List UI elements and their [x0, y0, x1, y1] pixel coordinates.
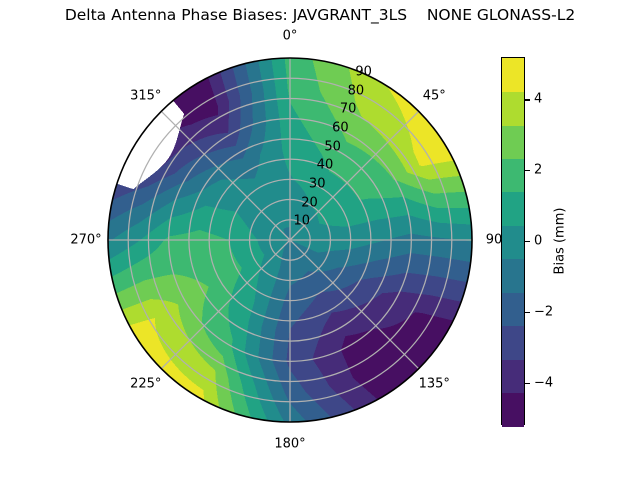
azimuth-tick-315: 315° — [130, 88, 161, 103]
colorbar-axis-label: Bias (mm) — [553, 208, 568, 275]
radial-tick-40: 40 — [317, 158, 334, 173]
radial-tick-10: 10 — [293, 214, 310, 229]
azimuth-tick-45: 45° — [423, 88, 446, 103]
radial-tick-60: 60 — [332, 120, 349, 135]
azimuth-tick-0: 0° — [283, 29, 298, 44]
colorbar-band — [502, 125, 524, 159]
colorbar-tick-label: 4 — [534, 92, 542, 107]
colorbar-band — [502, 259, 524, 293]
azimuth-tick-180: 180° — [274, 437, 305, 452]
colorbar-band — [502, 326, 524, 360]
colorbar-tick-label: 2 — [534, 163, 542, 178]
colorbar-band — [502, 158, 524, 192]
colorbar-tick-label: −4 — [534, 375, 553, 390]
colorbar-band — [502, 292, 524, 326]
colorbar-band — [502, 393, 524, 427]
radial-tick-50: 50 — [324, 139, 341, 154]
colorbar[interactable]: −4−2024 — [501, 57, 525, 425]
radial-tick-70: 70 — [340, 102, 357, 117]
colorbar-tick-mark — [525, 312, 530, 313]
colorbar-tick-mark — [525, 383, 530, 384]
radial-tick-90: 90 — [355, 64, 372, 79]
azimuth-tick-225: 225° — [130, 377, 161, 392]
colorbar-tick-label: −2 — [534, 304, 553, 319]
radial-tick-20: 20 — [301, 195, 318, 210]
colorbar-tick-mark — [525, 170, 530, 171]
colorbar-tick-mark — [525, 99, 530, 100]
azimuth-tick-135: 135° — [419, 377, 450, 392]
colorbar-tick-mark — [525, 241, 530, 242]
colorbar-band — [502, 91, 524, 125]
colorbar-band — [502, 58, 524, 92]
colorbar-band — [502, 359, 524, 393]
colorbar-band — [502, 192, 524, 226]
figure-canvas: Delta Antenna Phase Biases: JAVGRANT_3LS… — [0, 0, 640, 480]
radial-tick-30: 30 — [309, 176, 326, 191]
colorbar-tick-label: 0 — [534, 234, 542, 249]
colorbar-band — [502, 225, 524, 259]
radial-tick-80: 80 — [348, 83, 365, 98]
colorbar-gradient — [501, 57, 525, 425]
azimuth-tick-90: 90 — [486, 233, 503, 248]
azimuth-tick-270: 270° — [70, 233, 101, 248]
